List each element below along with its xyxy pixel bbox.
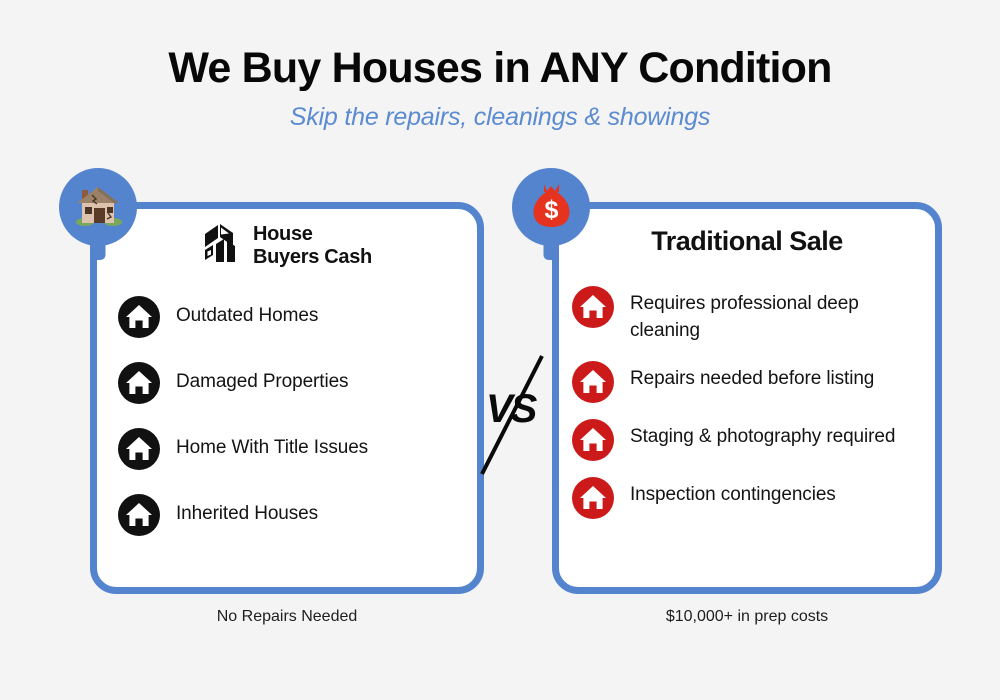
list-item: Home With Title Issues	[118, 427, 458, 470]
house-circle-icon-red	[572, 419, 614, 461]
list-item: Requires professional deep cleaning	[572, 285, 932, 345]
right-card-title: Traditional Sale	[552, 226, 942, 257]
left-card-footnote: No Repairs Needed	[90, 608, 484, 626]
list-item-label: Repairs needed before listing	[630, 360, 874, 393]
list-item-label: Outdated Homes	[176, 295, 318, 330]
right-card-feature-list: Requires professional deep cleaning Repa…	[572, 285, 932, 534]
list-item: Outdated Homes	[118, 295, 458, 338]
money-bag-icon: $	[526, 180, 576, 235]
house-circle-icon-red	[572, 286, 614, 328]
list-item-label: Inherited Houses	[176, 493, 318, 528]
list-item-label: Staging & photography required	[630, 418, 895, 451]
page-title: We Buy Houses in ANY Condition	[0, 0, 1000, 92]
list-item: Inspection contingencies	[572, 476, 932, 519]
header: We Buy Houses in ANY Condition Skip the …	[0, 0, 1000, 132]
list-item: Inherited Houses	[118, 493, 458, 536]
list-item-label: Requires professional deep cleaning	[630, 285, 932, 345]
right-card-badge: $	[512, 168, 590, 246]
brand-logo-text: House Buyers Cash	[253, 223, 372, 268]
list-item: Staging & photography required	[572, 418, 932, 461]
brand-logo: House Buyers Cash	[90, 222, 484, 269]
list-item: Damaged Properties	[118, 361, 458, 404]
svg-text:$: $	[545, 196, 559, 224]
list-item-label: Home With Title Issues	[176, 427, 368, 462]
house-circle-icon-red	[572, 477, 614, 519]
right-card-footnote: $10,000+ in prep costs	[552, 608, 942, 626]
house-circle-icon-black	[118, 428, 160, 470]
brand-logo-line1: House	[253, 223, 313, 245]
page-subtitle: Skip the repairs, cleanings & showings	[0, 92, 1000, 132]
house-circle-icon-black	[118, 296, 160, 338]
list-item: Repairs needed before listing	[572, 360, 932, 403]
left-card-badge	[59, 168, 137, 246]
badge-circle: $	[512, 168, 590, 246]
list-item-label: Inspection contingencies	[630, 476, 836, 509]
brand-logo-line2: Buyers Cash	[253, 246, 372, 268]
vs-label: VS	[486, 387, 535, 432]
left-card-feature-list: Outdated Homes Damaged Properties Home W…	[118, 295, 458, 559]
house-circle-icon-red	[572, 361, 614, 403]
list-item-label: Damaged Properties	[176, 361, 348, 396]
house-buyers-cash-logo-mark	[202, 222, 242, 269]
house-circle-icon-black	[118, 494, 160, 536]
house-circle-icon-black	[118, 362, 160, 404]
vs-divider: VS	[470, 350, 560, 480]
damaged-house-icon	[72, 182, 124, 233]
badge-circle	[59, 168, 137, 246]
